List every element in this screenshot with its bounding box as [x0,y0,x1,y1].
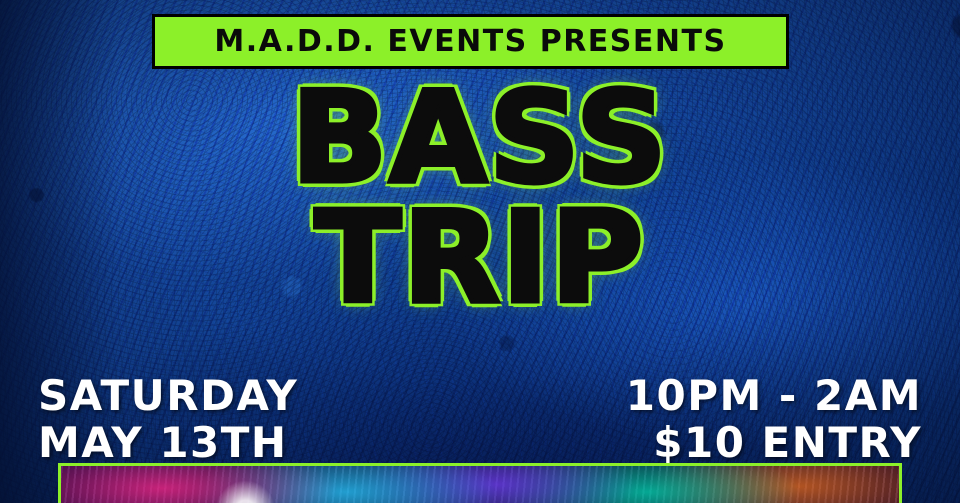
presents-banner-text: M.A.D.D. EVENTS PRESENTS [214,24,726,59]
event-date-block: SATURDAY MAY 13TH [38,372,298,466]
event-details: SATURDAY MAY 13TH 10PM - 2AM $10 ENTRY [0,372,960,466]
event-time-price-block: 10PM - 2AM $10 ENTRY [626,372,922,466]
event-date: MAY 13TH [38,419,298,466]
presents-banner: M.A.D.D. EVENTS PRESENTS [152,14,789,69]
bottom-photo-strip [58,463,902,503]
photo-strip-image [61,466,899,503]
event-title-line-2: TRIP [0,200,960,316]
event-time: 10PM - 2AM [626,372,922,419]
event-title: BASS TRIP [0,80,960,316]
event-flyer: M.A.D.D. EVENTS PRESENTS BASS TRIP SATUR… [0,0,960,503]
event-entry-price: $10 ENTRY [626,419,922,466]
event-title-line-1: BASS [0,80,960,196]
flyer-content: M.A.D.D. EVENTS PRESENTS BASS TRIP SATUR… [0,0,960,503]
event-day: SATURDAY [38,372,298,419]
